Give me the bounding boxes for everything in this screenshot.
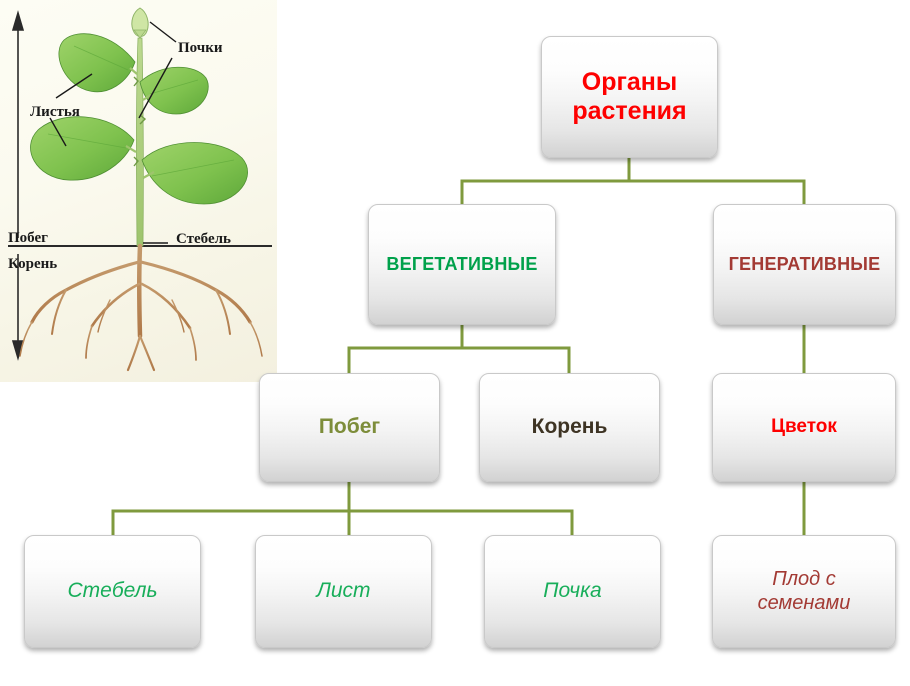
node-plant-organs[interactable]: Органырастения [541, 36, 718, 158]
label-stem: Стебель [176, 231, 231, 247]
node-root-organ-label: Корень [526, 415, 614, 440]
terminal-bud [132, 8, 148, 38]
node-root-organ[interactable]: Корень [479, 373, 660, 482]
label-leaves: Листья [30, 104, 80, 120]
node-leaf[interactable]: Лист [255, 535, 432, 648]
node-shoot-label: Побег [313, 415, 386, 440]
edge-vegetative-shoot [349, 325, 462, 373]
node-plant-organs-label: Органырастения [566, 68, 692, 127]
edge-shoot-stem [113, 482, 349, 535]
node-stem[interactable]: Стебель [24, 535, 201, 648]
edge-shoot-bud [349, 511, 572, 535]
stem-shape [136, 38, 143, 246]
node-generative[interactable]: ГЕНЕРАТИВНЫЕ [713, 204, 896, 325]
node-vegetative-label: ВЕГЕТАТИВНЫЕ [380, 254, 543, 275]
node-flower[interactable]: Цветок [712, 373, 896, 482]
plant-illustration: Почки Листья Побег Корень Стебель [0, 0, 277, 382]
edge-root-vegetative [462, 158, 629, 204]
node-bud[interactable]: Почка [484, 535, 661, 648]
measure-arrow [13, 13, 23, 358]
node-stem-label: Стебель [61, 579, 163, 604]
node-generative-label: ГЕНЕРАТИВНЫЕ [723, 254, 887, 275]
node-vegetative[interactable]: ВЕГЕТАТИВНЫЕ [368, 204, 556, 325]
plant-illustration-svg: Почки Листья Побег Корень Стебель [0, 0, 277, 382]
label-buds: Почки [178, 40, 223, 56]
node-flower-label: Цветок [765, 416, 843, 438]
node-fruit-with-seeds[interactable]: Плод ссеменами [712, 535, 896, 648]
edge-root-generative [629, 181, 804, 204]
label-shoot: Побег [8, 230, 48, 246]
node-shoot[interactable]: Побег [259, 373, 440, 482]
label-root: Корень [8, 256, 57, 272]
node-fruit-with-seeds-label: Плод ссеменами [752, 568, 857, 615]
node-leaf-label: Лист [310, 579, 376, 604]
edge-vegetative-rootorgan [462, 348, 569, 373]
node-bud-label: Почка [537, 579, 607, 604]
